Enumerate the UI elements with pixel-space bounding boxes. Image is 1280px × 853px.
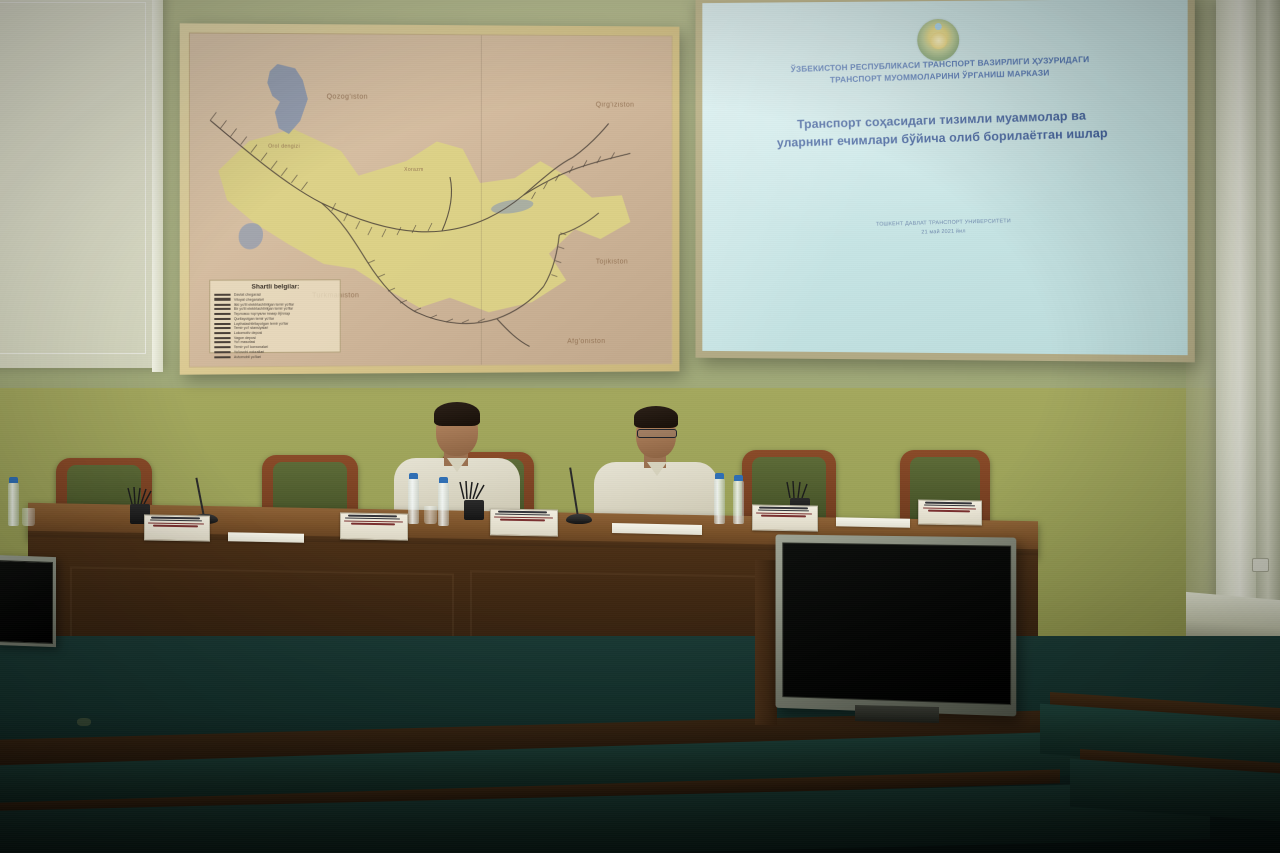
nameplate-line bbox=[348, 515, 397, 517]
railway-map-frame: Qozog'iston Qirg'iziston Tojikiston Turk… bbox=[180, 23, 680, 374]
nameplate-line bbox=[761, 515, 806, 517]
pilaster-right bbox=[1216, 0, 1256, 660]
legend-item-label: Lokomotiv deposi bbox=[234, 331, 262, 335]
legend-swatch-icon bbox=[215, 346, 231, 348]
uzbekistan-state-emblem-icon bbox=[917, 19, 960, 62]
nameplate-line bbox=[759, 507, 808, 509]
legend-swatch-icon bbox=[215, 303, 231, 305]
drinking-glass-1[interactable] bbox=[22, 508, 35, 526]
nameplate-line bbox=[345, 518, 400, 520]
paper-sheet-1[interactable] bbox=[228, 532, 304, 543]
map-legend-title: Shartli belgilar: bbox=[215, 284, 337, 291]
map-label-tajikistan: Tojikiston bbox=[596, 259, 628, 266]
bottle-cap-5 bbox=[734, 475, 743, 481]
nameplate-line bbox=[500, 519, 545, 521]
legend-swatch-icon bbox=[215, 308, 231, 310]
legend-item-label: Bir yo'lli elektrlashtirilgan temir yo'l… bbox=[234, 307, 293, 311]
power-outlet bbox=[1252, 558, 1269, 572]
speaker-left-collar bbox=[447, 458, 467, 472]
speaker-right-hair bbox=[634, 406, 678, 428]
map-label-xorazm: Xorazm bbox=[404, 167, 424, 173]
nameplate-1 bbox=[144, 514, 210, 541]
nameplate-line bbox=[150, 520, 202, 522]
speaker-right-collar bbox=[647, 462, 667, 476]
bottle-cap-3 bbox=[439, 477, 448, 483]
legend-swatch-icon bbox=[215, 313, 231, 315]
legend-item-label: Viloyat chegaralari bbox=[234, 298, 264, 302]
pens-2 bbox=[458, 481, 486, 499]
microphone-2[interactable] bbox=[566, 466, 594, 524]
bottle-cap-1 bbox=[9, 477, 18, 483]
water-bottle-5[interactable] bbox=[733, 480, 744, 524]
pilaster-right-outer bbox=[1256, 0, 1280, 680]
legend-item-label: Yo'lovchi vokzallari bbox=[234, 350, 264, 354]
legend-swatch-icon bbox=[215, 337, 231, 339]
nameplate-line bbox=[151, 517, 200, 519]
eyeglasses-icon bbox=[637, 429, 677, 438]
legend-swatch-icon bbox=[215, 327, 231, 329]
nameplate-5 bbox=[918, 499, 982, 525]
water-bottle-4[interactable] bbox=[714, 478, 725, 524]
carpet-motif bbox=[77, 718, 91, 726]
nameplate-line bbox=[924, 505, 975, 507]
flat-screen-television[interactable] bbox=[776, 534, 1017, 716]
map-legend: Shartli belgilar: Davlat chegarasi Viloy… bbox=[209, 279, 341, 353]
legend-item: Avtomobil yo'llari bbox=[215, 354, 337, 359]
monitor-left-screen bbox=[0, 560, 53, 644]
nameplate-line bbox=[925, 502, 972, 504]
bottle-cap-4 bbox=[715, 473, 724, 479]
tv-screen bbox=[782, 542, 1011, 705]
legend-swatch-icon bbox=[215, 294, 231, 296]
legend-item-label: Davlat chegarasi bbox=[234, 293, 261, 297]
nameplate-line bbox=[758, 510, 809, 512]
legend-swatch-icon bbox=[215, 342, 231, 344]
projection-screen-frame: ЎЗБЕКИСТОН РЕСПУБЛИКАСИ ТРАНСПОРТ ВАЗИРЛ… bbox=[696, 0, 1195, 362]
railway-map: Qozog'iston Qirg'iziston Tojikiston Turk… bbox=[189, 32, 673, 367]
legend-item-label: Avtomobil yo'llari bbox=[234, 355, 261, 359]
nameplate-line bbox=[153, 525, 198, 527]
speaker-left-hair bbox=[434, 402, 480, 426]
legend-swatch-icon bbox=[215, 351, 231, 353]
tv-stand bbox=[855, 705, 939, 723]
legend-item-label: Ikki yo'lli elektrlashtirilgan temir yo'… bbox=[234, 302, 294, 306]
legend-swatch-icon bbox=[215, 318, 231, 320]
map-label-aral-sea: Orol dengizi bbox=[268, 144, 300, 150]
nameplate-2 bbox=[340, 512, 408, 540]
nameplate-line bbox=[498, 511, 547, 513]
tv-cabinet-side bbox=[755, 560, 777, 726]
legend-swatch-icon bbox=[215, 356, 231, 358]
legend-swatch-icon bbox=[215, 323, 231, 325]
conference-room-photo: Qozog'iston Qirg'iziston Tojikiston Turk… bbox=[0, 0, 1280, 853]
map-label-afghanistan: Afg'oniston bbox=[567, 338, 605, 345]
pen-holder-2[interactable] bbox=[464, 500, 484, 520]
map-label-kyrgyzstan: Qirg'iziston bbox=[596, 102, 635, 109]
legend-item-label: Temir yo'l korxonalari bbox=[234, 345, 268, 349]
nameplate-line bbox=[495, 514, 550, 516]
legend-item-label: Loyihalashtirilayotgan temir yo'llar bbox=[234, 321, 289, 325]
map-label-kazakhstan: Qozog'iston bbox=[327, 94, 368, 101]
mic-stem bbox=[569, 467, 579, 517]
nameplate-line bbox=[928, 510, 970, 512]
mic-stem bbox=[195, 478, 205, 518]
slide-footer: ТОШКЕНТ ДАВЛАТ ТРАНСПОРТ УНИВЕРСИТЕТИ 21… bbox=[727, 214, 1164, 242]
projection-screen: ЎЗБЕКИСТОН РЕСПУБЛИКАСИ ТРАНСПОРТ ВАЗИРЛ… bbox=[702, 0, 1187, 355]
pens-1 bbox=[126, 486, 154, 504]
legend-item-label: Yo'l masofasi bbox=[234, 340, 255, 344]
pens-3 bbox=[784, 480, 812, 498]
legend-item-label: Tepловоз тортувли темир йўллар bbox=[234, 312, 290, 316]
presentation-slide: ЎЗБЕКИСТОН РЕСПУБЛИКАСИ ТРАНСПОРТ ВАЗИРЛ… bbox=[702, 0, 1187, 355]
water-bottle-3[interactable] bbox=[438, 482, 449, 526]
paper-sheet-2[interactable] bbox=[612, 523, 702, 535]
mic-base bbox=[566, 514, 592, 524]
monitor-left[interactable] bbox=[0, 555, 56, 647]
bottle-cap-2 bbox=[409, 473, 418, 479]
nameplate-3 bbox=[490, 508, 558, 536]
slide-title: Транспорт соҳасидаги тизимли муаммолар в… bbox=[724, 105, 1162, 154]
paper-sheet-3[interactable] bbox=[836, 517, 910, 528]
legend-item-label: Vagon deposi bbox=[234, 336, 256, 340]
water-bottle-2[interactable] bbox=[408, 478, 419, 524]
water-bottle-1[interactable] bbox=[8, 482, 19, 526]
wall-panel-left bbox=[0, 0, 163, 368]
nameplate-line bbox=[351, 523, 395, 525]
legend-swatch-icon bbox=[215, 332, 231, 334]
wall-panel-left-edge bbox=[152, 0, 163, 372]
drinking-glass-2[interactable] bbox=[424, 506, 437, 524]
nameplate-4 bbox=[752, 504, 818, 531]
legend-item-label: Temir yo'l stansiyalari bbox=[234, 326, 269, 330]
legend-swatch-icon bbox=[215, 298, 231, 301]
speaker-right bbox=[592, 398, 720, 528]
legend-item-label: Qurilayotgan temir yo'llar bbox=[234, 316, 274, 320]
